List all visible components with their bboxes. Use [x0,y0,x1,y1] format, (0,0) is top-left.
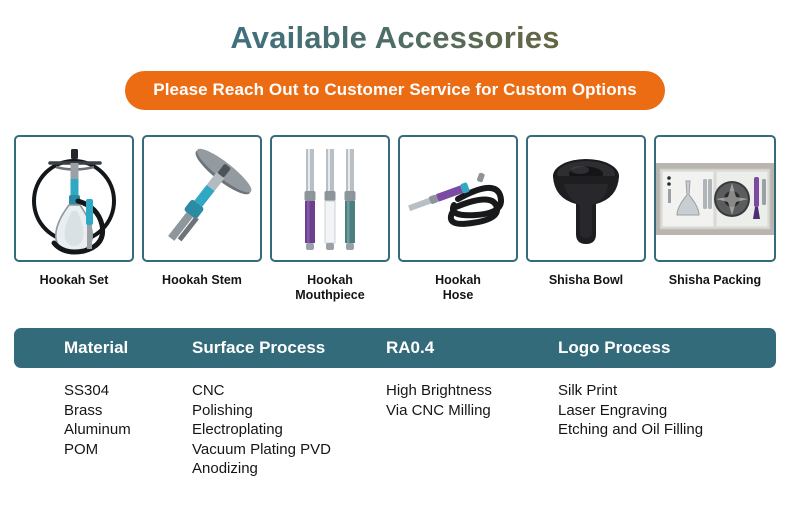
hookah-set-image [26,141,122,257]
card-frame [398,135,518,262]
list-item: Electroplating [192,420,332,440]
list-item: Anodizing [192,459,332,479]
list-item: POM [64,440,142,460]
column-header-ra04: RA0.4 [332,338,503,358]
spec-table-body: SS304 Brass Aluminum POM CNC Polishing E… [14,368,776,479]
card-frame [270,135,390,262]
accessory-card-shisha-bowl[interactable]: Shisha Bowl [526,135,646,303]
hookah-stem-image [147,143,257,255]
list-item: Laser Engraving [558,401,776,421]
banner-row: Please Reach Out to Customer Service for… [0,71,790,110]
column-surface-process: CNC Polishing Electroplating Vacuum Plat… [142,381,332,479]
shisha-bowl-image [538,148,634,250]
accessory-card-hookah-set[interactable]: Hookah Set [14,135,134,303]
card-label: Hookah Stem [162,273,242,288]
card-label: Shisha Bowl [549,273,623,288]
spec-table: Material Surface Process RA0.4 Logo Proc… [14,328,776,479]
card-label: Hookah Set [40,273,109,288]
list-item: Etching and Oil Filling [558,420,776,440]
accessory-card-row: Hookah Set Hookah St [14,135,776,303]
card-frame [526,135,646,262]
spec-table-header-row: Material Surface Process RA0.4 Logo Proc… [14,328,776,368]
hookah-hose-image [402,149,514,249]
list-item: Via CNC Milling [386,401,503,421]
card-frame [654,135,776,262]
accessory-card-hookah-hose[interactable]: Hookah Hose [398,135,518,303]
column-logo-process: Silk Print Laser Engraving Etching and O… [503,381,776,479]
list-item: SS304 [64,381,142,401]
column-header-surface-process: Surface Process [142,338,332,358]
card-label: Hookah Mouthpiece [295,273,364,303]
accessories-page: Available Accessories Please Reach Out t… [0,0,790,510]
page-title: Available Accessories [0,20,790,56]
list-item: Aluminum [64,420,142,440]
hookah-mouthpiece-image [295,143,365,255]
accessory-card-shisha-packing[interactable]: Shisha Packing [654,135,776,303]
column-header-logo-process: Logo Process [503,338,776,358]
list-item: CNC [192,381,332,401]
list-item: High Brightness [386,381,503,401]
column-material: SS304 Brass Aluminum POM [14,381,142,479]
accessory-card-hookah-mouthpiece[interactable]: Hookah Mouthpiece [270,135,390,303]
list-item: Polishing [192,401,332,421]
custom-options-banner[interactable]: Please Reach Out to Customer Service for… [125,71,665,110]
card-frame [14,135,134,262]
column-ra04: High Brightness Via CNC Milling [332,381,503,479]
accessory-card-hookah-stem[interactable]: Hookah Stem [142,135,262,303]
card-frame [142,135,262,262]
list-item: Silk Print [558,381,776,401]
card-label: Hookah Hose [435,273,481,303]
list-item: Brass [64,401,142,421]
card-label: Shisha Packing [669,273,761,288]
column-header-material: Material [14,338,142,358]
shisha-packing-image [656,163,774,235]
list-item: Vacuum Plating PVD [192,440,332,460]
